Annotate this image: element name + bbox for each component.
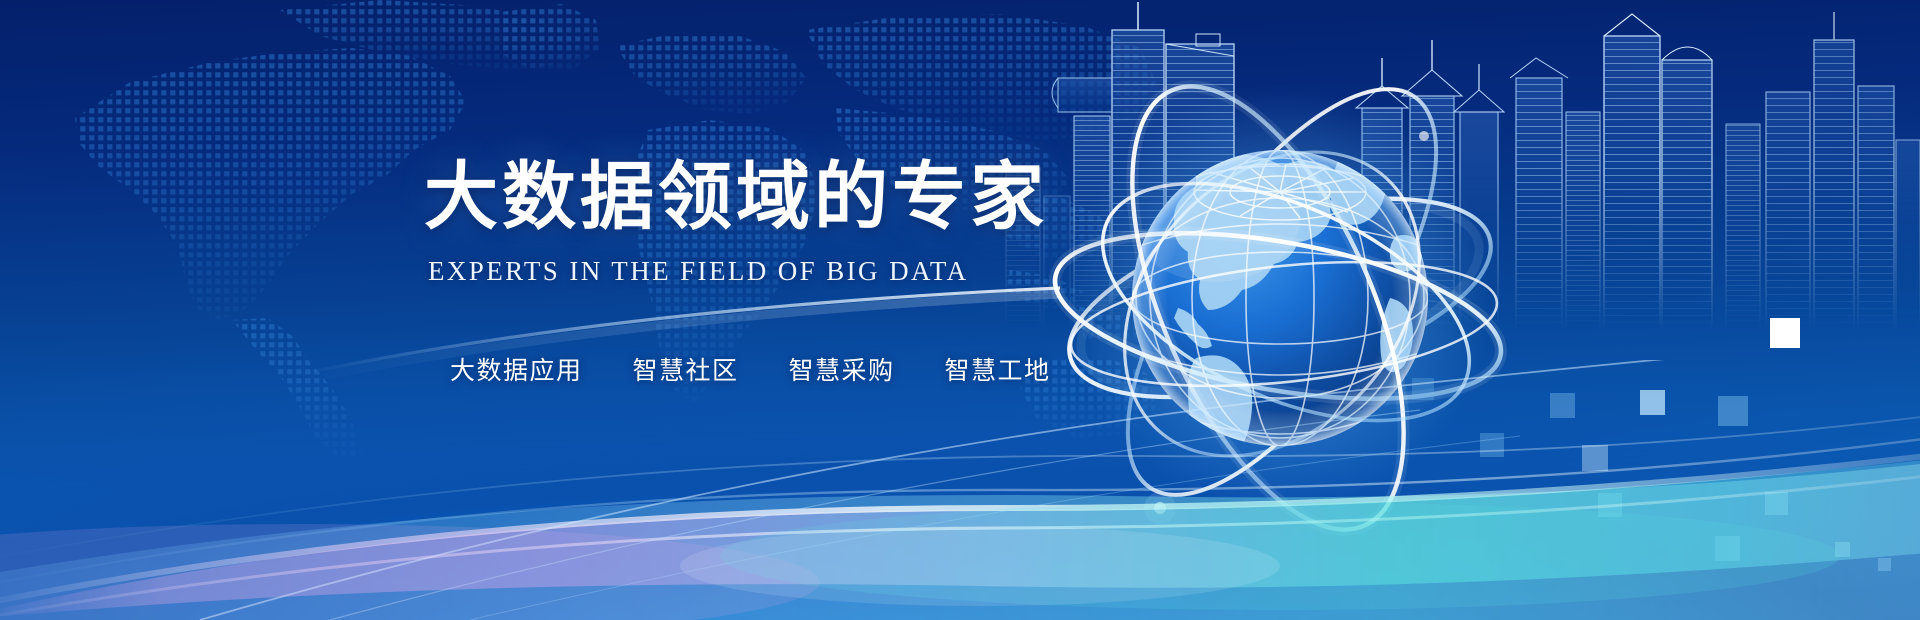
- mosaic-square-12: [1412, 378, 1434, 400]
- banner-nav: 大数据应用智慧社区智慧采购智慧工地: [450, 351, 1144, 387]
- big-data-banner: 大数据领域的专家 EXPERTS IN THE FIELD OF BIG DAT…: [0, 0, 1920, 620]
- nav-item-2[interactable]: 智慧社区: [633, 351, 739, 387]
- aurora-ribbon-icon: [0, 360, 1920, 620]
- mosaic-square-8: [1598, 493, 1622, 517]
- nav-item-3[interactable]: 智慧采购: [789, 351, 895, 387]
- mosaic-square-2: [1640, 390, 1665, 415]
- mosaic-square-6: [1480, 433, 1504, 457]
- banner-copy: 大数据领域的专家 EXPERTS IN THE FIELD OF BIG DAT…: [424, 160, 1144, 387]
- mosaic-square-1: [1770, 318, 1800, 348]
- mosaic-square-7: [1765, 492, 1788, 515]
- subtitle: EXPERTS IN THE FIELD OF BIG DATA: [428, 256, 1144, 287]
- mosaic-square-11: [1878, 558, 1891, 571]
- mosaic-square-4: [1718, 396, 1748, 426]
- nav-item-1[interactable]: 大数据应用: [450, 351, 583, 387]
- mosaic-square-9: [1715, 536, 1740, 561]
- page-title: 大数据领域的专家: [424, 160, 1144, 234]
- mosaic-square-3: [1582, 445, 1608, 471]
- nav-item-4[interactable]: 智慧工地: [945, 351, 1051, 387]
- mosaic-square-10: [1835, 542, 1850, 557]
- mosaic-square-5: [1550, 393, 1575, 418]
